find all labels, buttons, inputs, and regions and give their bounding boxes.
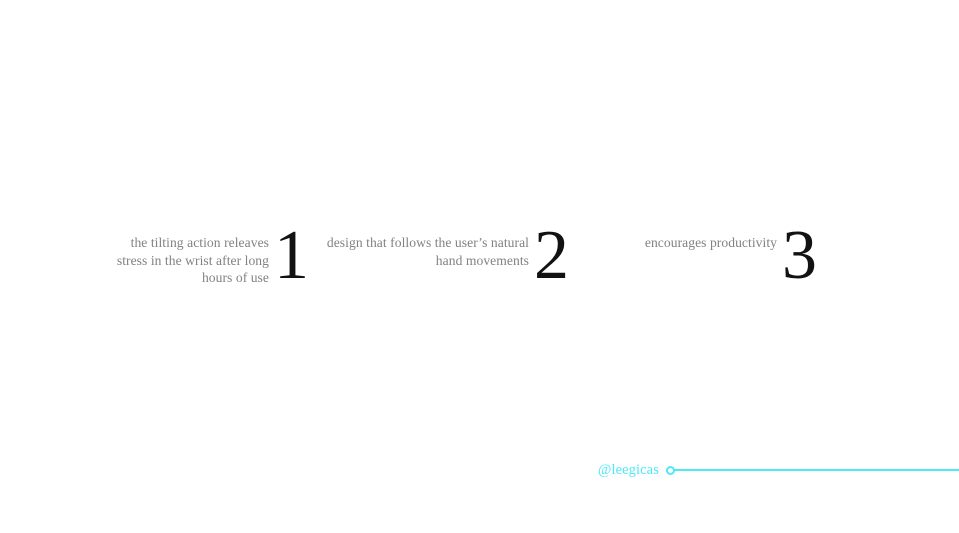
feature-1-numeral: 1 [274, 228, 308, 284]
feature-1-text: the tilting action releaves stress in th… [111, 228, 269, 287]
feature-3-numeral: 3 [782, 228, 816, 284]
feature-item-3: encourages productivity 3 [568, 228, 816, 284]
slide-canvas: the tilting action releaves stress in th… [0, 0, 959, 533]
footer-handle-label: @leegicas [598, 461, 659, 479]
feature-2-text: design that follows the user’s natural h… [308, 228, 529, 269]
feature-2-numeral: 2 [534, 228, 568, 284]
feature-3-text: encourages productivity [645, 228, 777, 252]
feature-item-1: the tilting action releaves stress in th… [111, 228, 308, 287]
footer-rule-divider [674, 469, 959, 471]
footer-credit: @leegicas [598, 461, 959, 479]
feature-item-2: design that follows the user’s natural h… [308, 228, 568, 284]
feature-row: the tilting action releaves stress in th… [111, 228, 816, 287]
